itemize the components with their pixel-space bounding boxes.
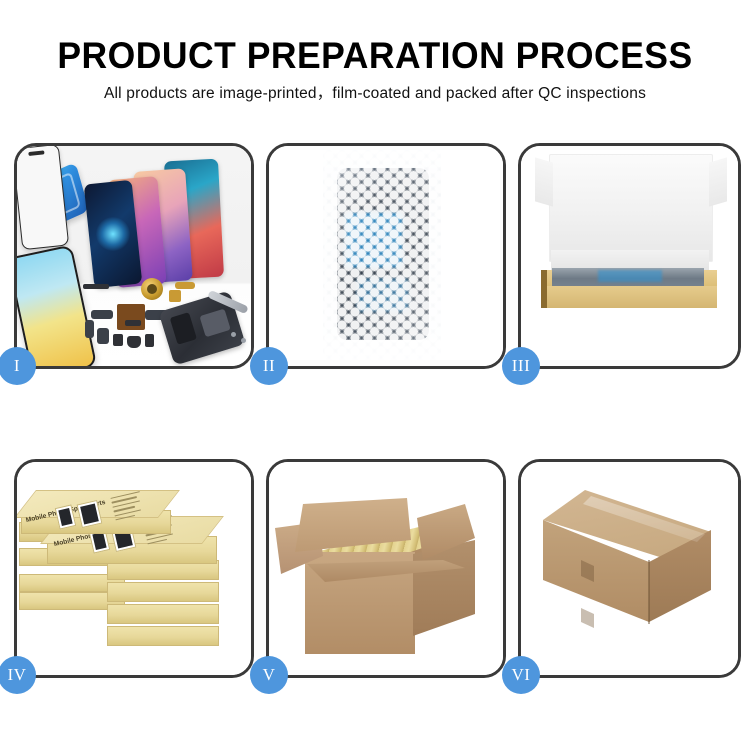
part-camera-module bbox=[113, 334, 123, 346]
process-steps-grid: I II III bbox=[0, 0, 750, 750]
part-screw-1 bbox=[231, 332, 236, 337]
part-shield bbox=[125, 320, 141, 326]
part-connector bbox=[145, 334, 154, 347]
step-badge-4: IV bbox=[0, 656, 36, 694]
part-vibrator-coil bbox=[141, 278, 163, 300]
part-flex-cable-3 bbox=[97, 328, 109, 344]
step-image-6 bbox=[521, 462, 738, 675]
step-panel-1[interactable]: I bbox=[14, 143, 254, 369]
box-front-panel bbox=[541, 286, 717, 308]
step-badge-3: III bbox=[502, 347, 540, 385]
step-image-1 bbox=[17, 146, 251, 366]
part-logic-grid bbox=[117, 304, 145, 330]
part-gold-flex bbox=[175, 282, 195, 289]
step-image-3 bbox=[521, 146, 738, 366]
step-badge-5: V bbox=[250, 656, 288, 694]
part-speaker-mesh bbox=[83, 284, 109, 289]
retail-box-stack-item bbox=[107, 626, 219, 646]
step-image-2 bbox=[269, 146, 503, 366]
part-earpiece bbox=[127, 336, 141, 348]
retail-box-stack-item bbox=[107, 582, 219, 602]
plastic-gloss bbox=[323, 150, 441, 362]
step-badge-6: VI bbox=[502, 656, 540, 694]
step-badge-2: II bbox=[250, 347, 288, 385]
step-panel-5[interactable]: V bbox=[266, 459, 506, 678]
spare-parts-group bbox=[83, 276, 251, 364]
carton-vertical-edge bbox=[648, 560, 650, 624]
step-panel-2[interactable]: II bbox=[266, 143, 506, 369]
step-image-4: Mobile Phone Spare Parts Mobile Phone Sp… bbox=[17, 462, 251, 675]
step-badge-1: I bbox=[0, 347, 36, 385]
step-panel-6[interactable]: VI bbox=[518, 459, 741, 678]
part-gold-bracket bbox=[169, 290, 181, 302]
step-panel-3[interactable]: III bbox=[518, 143, 741, 369]
part-screw-2 bbox=[241, 338, 246, 343]
step-panel-4[interactable]: Mobile Phone Spare Parts Mobile Phone Sp… bbox=[14, 459, 254, 678]
part-flex-cable-1 bbox=[91, 310, 113, 319]
page-root: PRODUCT PREPARATION PROCESS All products… bbox=[0, 0, 750, 750]
part-flex-cable-2 bbox=[85, 320, 94, 338]
carton-front-face bbox=[305, 566, 415, 654]
box-lid bbox=[549, 154, 713, 262]
step-image-5 bbox=[269, 462, 503, 675]
retail-box-stack-item bbox=[107, 604, 219, 624]
box-left-edge bbox=[541, 270, 547, 308]
